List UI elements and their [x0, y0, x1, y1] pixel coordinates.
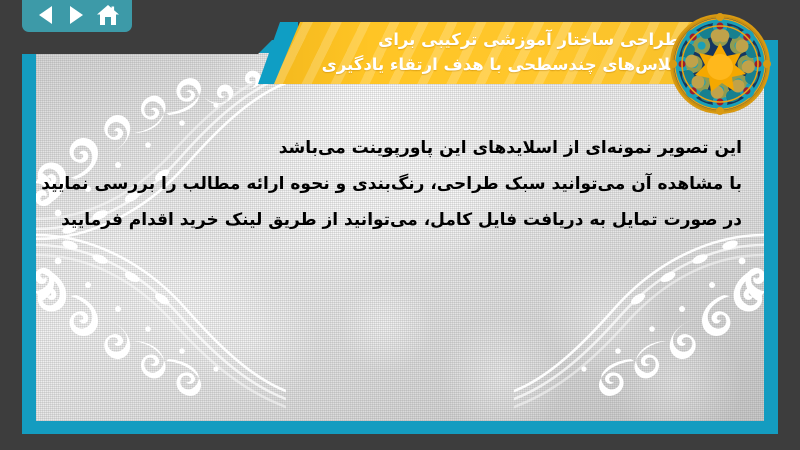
- title-line-2: کلاس‌های چندسطحی با هدف ارتقاء یادگیری: [322, 53, 680, 78]
- title-line-1: طراحی ساختار آموزشی ترکیبی برای: [378, 28, 680, 53]
- body-line-3: در صورت تمایل به دریافت فایل کامل، می‌تو…: [82, 208, 742, 232]
- back-button[interactable]: [34, 3, 58, 27]
- body-line-2: با مشاهده آن می‌توانید سبک طراحی، رنگ‌بن…: [82, 172, 742, 196]
- slide-frame: این تصویر نمونه‌ای از اسلایدهای این پاور…: [22, 40, 778, 434]
- navigation-bar: [22, 0, 132, 32]
- triangle-left-icon: [39, 6, 52, 24]
- home-icon: [96, 4, 120, 26]
- slide-body-text: این تصویر نمونه‌ای از اسلایدهای این پاور…: [82, 136, 742, 244]
- body-line-1: این تصویر نمونه‌ای از اسلایدهای این پاور…: [82, 136, 742, 160]
- triangle-right-icon: [70, 6, 83, 24]
- persian-geometric-medallion-icon: [668, 12, 772, 116]
- forward-button[interactable]: [65, 3, 89, 27]
- frame-notch: [22, 40, 272, 54]
- title-banner: طراحی ساختار آموزشی ترکیبی برای کلاس‌های…: [274, 22, 714, 84]
- home-button[interactable]: [96, 3, 120, 27]
